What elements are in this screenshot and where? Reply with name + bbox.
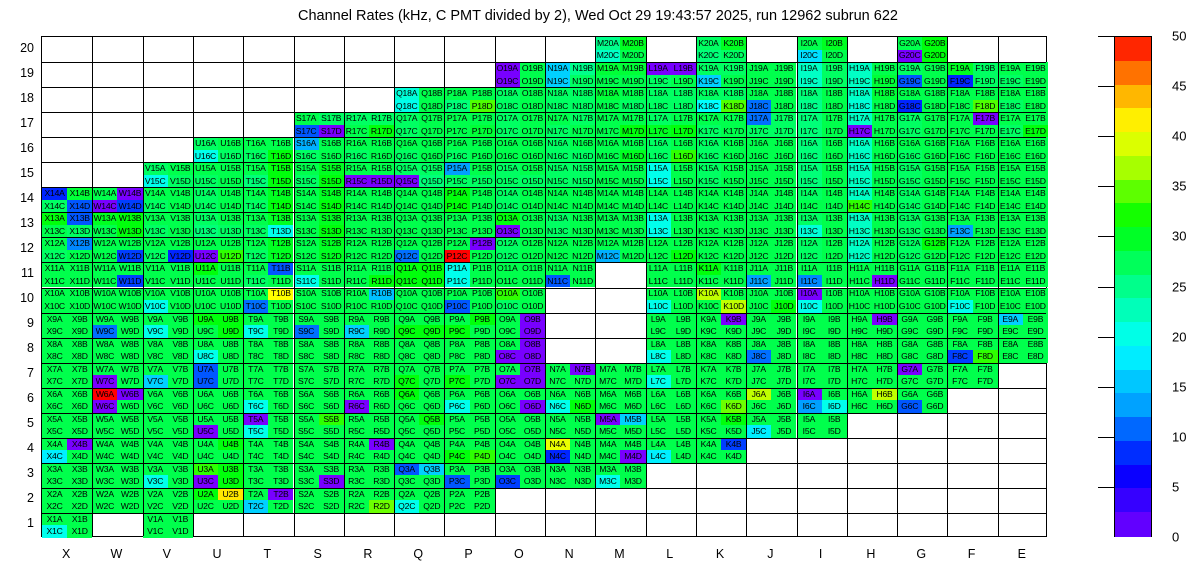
heatmap-cell: P16D [470,150,495,163]
heatmap-cell: H13D [872,225,897,238]
heatmap-cell: H15D [872,175,897,188]
colorbar-tick-mark [1098,86,1114,87]
heatmap-cell: R14D [369,200,394,213]
heatmap-cell: U12B [218,237,243,250]
heatmap-cell: M6B [620,388,645,401]
heatmap-cell: V13D [168,225,193,238]
heatmap-cell: K17A [696,112,721,125]
heatmap-cell: S12C [294,250,319,263]
heatmap-cell: T15D [268,175,293,188]
heatmap-cell: Q5C [394,425,419,438]
heatmap-cell: P6B [470,388,495,401]
heatmap-cell: K13A [696,212,721,225]
heatmap-cell: G7A [897,363,922,376]
heatmap-cell: S15C [294,175,319,188]
heatmap-cell: N3D [570,475,595,488]
heatmap-cell: V12B [168,237,193,250]
heatmap-cell: W14D [117,200,142,213]
heatmap-cell: U2D [218,500,243,513]
heatmap-cell: L7C [646,375,671,388]
heatmap-cell: L12C [646,250,671,263]
heatmap-cell: G11D [922,275,947,288]
heatmap-cell: N4A [545,438,570,451]
heatmap-plot[interactable]: M20AM20BM20CM20DK20AK20BK20CK20DI20AI20B… [41,36,1047,537]
heatmap-cell: J15C [746,175,771,188]
heatmap-cell: R5A [344,413,369,426]
heatmap-cell: T5B [268,413,293,426]
heatmap-cell: S15B [319,162,344,175]
heatmap-cell: H17B [872,112,897,125]
heatmap-cell: Q13B [419,212,444,225]
heatmap-cell: G11A [897,262,922,275]
heatmap-cell: N17D [570,125,595,138]
heatmap-cell: K16D [721,150,746,163]
heatmap-cell: Q12A [394,237,419,250]
heatmap-cell: S5C [294,425,319,438]
heatmap-cell: R17C [344,125,369,138]
heatmap-cell: N3A [545,463,570,476]
heatmap-cell: J17B [771,112,796,125]
heatmap-cell: U4D [218,450,243,463]
heatmap-cell: J19C [746,75,771,88]
heatmap-cell: X12D [67,250,92,263]
grid-line-horizontal [42,87,1046,88]
colorbar-tick-label: 40 [1172,129,1186,144]
heatmap-cell: P18A [444,87,469,100]
heatmap-cell: F17B [973,112,998,125]
heatmap-cell: X6D [67,400,92,413]
heatmap-cell: L18B [671,87,696,100]
heatmap-cell: P6D [470,400,495,413]
grid-line-horizontal [42,162,1046,163]
heatmap-cell: S3C [294,475,319,488]
heatmap-cell: V11B [168,262,193,275]
heatmap-cell: E12B [1023,237,1048,250]
heatmap-cell: F16A [947,137,972,150]
heatmap-cell: U14C [193,200,218,213]
heatmap-cell: U7B [218,363,243,376]
heatmap-cell: G19A [897,62,922,75]
heatmap-cell: Q12D [419,250,444,263]
heatmap-cell: X6C [42,400,67,413]
heatmap-cell: T13B [268,212,293,225]
heatmap-cell: S6C [294,400,319,413]
heatmap-cell: H11A [847,262,872,275]
heatmap-cell: U13D [218,225,243,238]
heatmap-cell: I19D [822,75,847,88]
heatmap-cell: Q6B [419,388,444,401]
heatmap-cell: S5A [294,413,319,426]
heatmap-cell: P11B [470,262,495,275]
heatmap-cell: F12C [947,250,972,263]
heatmap-cell: S7B [319,363,344,376]
heatmap-cell: S2C [294,500,319,513]
heatmap-cell: U11A [193,262,218,275]
heatmap-cell: K11B [721,262,746,275]
heatmap-cell: R8D [369,350,394,363]
heatmap-cell: Q12B [419,237,444,250]
heatmap-cell: F15B [973,162,998,175]
heatmap-cell: O6C [495,400,520,413]
heatmap-cell: H8B [872,338,897,351]
grid-line-horizontal [42,438,1046,439]
heatmap-cell: V1B [168,513,193,526]
heatmap-cell: U11B [218,262,243,275]
heatmap-cell: I16B [822,137,847,150]
heatmap-cell: X10B [67,288,92,301]
heatmap-cell: T10C [243,300,268,313]
heatmap-cell: M19D [620,75,645,88]
heatmap-cell: F13B [973,212,998,225]
heatmap-cell: W8B [117,338,142,351]
heatmap-cell: Q13A [394,212,419,225]
heatmap-cell: E18A [998,87,1023,100]
heatmap-cell: K9D [721,325,746,338]
heatmap-cell: L10A [646,288,671,301]
heatmap-cell: U3A [193,463,218,476]
heatmap-cell: L15A [646,162,671,175]
heatmap-cell: H15B [872,162,897,175]
heatmap-cell: M19B [620,62,645,75]
heatmap-cell: N15A [545,162,570,175]
heatmap-cell: Q11D [419,275,444,288]
heatmap-cell: T3B [268,463,293,476]
heatmap-cell: F16C [947,150,972,163]
heatmap-cell: P16B [470,137,495,150]
heatmap-cell: R2C [344,500,369,513]
heatmap-cell: J16C [746,150,771,163]
heatmap-cell: V10D [168,300,193,313]
heatmap-cell: J5A [746,413,771,426]
heatmap-cell: M13C [595,225,620,238]
heatmap-cell: H6B [872,388,897,401]
heatmap-cell: E19A [998,62,1023,75]
heatmap-cell: J11B [771,262,796,275]
heatmap-cell: J6D [771,400,796,413]
heatmap-cell: E9B [1023,313,1048,326]
heatmap-cell: V4B [168,438,193,451]
heatmap-cell: V6D [168,400,193,413]
heatmap-cell: U11C [193,275,218,288]
heatmap-cell: L9A [646,313,671,326]
heatmap-cell: I13B [822,212,847,225]
heatmap-cell: I9D [822,325,847,338]
heatmap-cell: K15A [696,162,721,175]
heatmap-cell: K14A [696,187,721,200]
heatmap-cell: O13D [520,225,545,238]
heatmap-cell: K10B [721,288,746,301]
heatmap-cell: L8C [646,350,671,363]
heatmap-cell: P2B [470,488,495,501]
heatmap-cell: Q10D [419,300,444,313]
heatmap-cell: F17A [947,112,972,125]
heatmap-cell: P11D [470,275,495,288]
heatmap-cell: V2B [168,488,193,501]
heatmap-cell: K17D [721,125,746,138]
heatmap-cell: O14A [495,187,520,200]
heatmap-cell: O10B [520,288,545,301]
heatmap-cell: G13C [897,225,922,238]
heatmap-cell: W13C [92,225,117,238]
heatmap-cell: E19C [998,75,1023,88]
heatmap-cell: W7C [92,375,117,388]
grid-line-horizontal [42,488,1046,489]
grid-line-horizontal [42,363,1046,364]
heatmap-cell: G12C [897,250,922,263]
heatmap-cell: R16C [344,150,369,163]
heatmap-cell: V14B [168,187,193,200]
heatmap-cell: P5C [444,425,469,438]
heatmap-cell: H19A [847,62,872,75]
heatmap-cell: X7A [42,363,67,376]
heatmap-cell: G9D [922,325,947,338]
heatmap-cell: R16D [369,150,394,163]
colorbar-tick-label: 15 [1172,379,1186,394]
colorbar-tick-mark [1098,136,1114,137]
heatmap-cell: J8B [771,338,796,351]
heatmap-cell: Q9C [394,325,419,338]
heatmap-cell: Q15B [419,162,444,175]
heatmap-cell: O17B [520,112,545,125]
heatmap-cell: W9A [92,313,117,326]
heatmap-cell: L6A [646,388,671,401]
y-axis-tick-label: 18 [4,91,34,105]
heatmap-cell: F17D [973,125,998,138]
heatmap-cell: I15B [822,162,847,175]
heatmap-cell: S3B [319,463,344,476]
heatmap-cell: G14A [897,187,922,200]
heatmap-cell: V2A [143,488,168,501]
heatmap-cell: O15A [495,162,520,175]
heatmap-cell: G16D [922,150,947,163]
heatmap-cell: K19C [696,75,721,88]
heatmap-cell: I6B [822,388,847,401]
heatmap-cell: V6A [143,388,168,401]
heatmap-cell: N15B [570,162,595,175]
heatmap-cell: F7A [947,363,972,376]
heatmap-cell: X8B [67,338,92,351]
heatmap-cell: S6A [294,388,319,401]
heatmap-cell: V8A [143,338,168,351]
heatmap-cell: U14B [218,187,243,200]
y-axis-tick-label: 16 [4,141,34,155]
heatmap-cell: O12D [520,250,545,263]
heatmap-cell: J17A [746,112,771,125]
heatmap-cell: I8C [797,350,822,363]
heatmap-cell: E18D [1023,100,1048,113]
heatmap-cell: R13C [344,225,369,238]
heatmap-cell: R8B [369,338,394,351]
heatmap-cell: U13B [218,212,243,225]
heatmap-cell: R11A [344,262,369,275]
heatmap-cell: U7D [218,375,243,388]
heatmap-cell: K5D [721,425,746,438]
heatmap-cell: W10B [117,288,142,301]
heatmap-cell: I16D [822,150,847,163]
heatmap-cell: I10A [797,288,822,301]
heatmap-cell: H12A [847,237,872,250]
heatmap-cell: M13B [620,212,645,225]
heatmap-cell: J18C [746,100,771,113]
heatmap-cell: K6C [696,400,721,413]
grid-line-horizontal [42,237,1046,238]
heatmap-cell: E14A [998,187,1023,200]
heatmap-cell: F18C [947,100,972,113]
heatmap-cell: O11D [520,275,545,288]
heatmap-cell: E13D [1023,225,1048,238]
y-axis-tick-label: 6 [4,391,34,405]
heatmap-cell: L15B [671,162,696,175]
heatmap-cell: P4A [444,438,469,451]
y-axis-tick-label: 11 [4,266,34,280]
heatmap-cell: O18A [495,87,520,100]
heatmap-cell: G6B [922,388,947,401]
heatmap-cell: X14A [42,187,67,200]
heatmap-cell: P17C [444,125,469,138]
heatmap-cell: W11D [117,275,142,288]
heatmap-cell: L12B [671,237,696,250]
heatmap-cell: T5D [268,425,293,438]
heatmap-cell: W8C [92,350,117,363]
heatmap-cell: J9A [746,313,771,326]
heatmap-cell: X14C [42,200,67,213]
heatmap-cell: U16C [193,150,218,163]
heatmap-cell: R3A [344,463,369,476]
heatmap-cell: O9A [495,313,520,326]
heatmap-cell: S8A [294,338,319,351]
heatmap-cell: J8C [746,350,771,363]
heatmap-cell: M18D [620,100,645,113]
heatmap-cell: E10B [1023,288,1048,301]
heatmap-cell: N15C [545,175,570,188]
heatmap-cell: M3D [620,475,645,488]
heatmap-cell: L14C [646,200,671,213]
heatmap-cell: I19B [822,62,847,75]
y-axis-tick-label: 14 [4,191,34,205]
heatmap-cell: S9D [319,325,344,338]
heatmap-cell: W4B [117,438,142,451]
heatmap-cell: W9C [92,325,117,338]
heatmap-cell: Q18B [419,87,444,100]
heatmap-cell: S14C [294,200,319,213]
heatmap-cell: H6C [847,400,872,413]
heatmap-cell: R15A [344,162,369,175]
heatmap-cell: O19C [495,75,520,88]
heatmap-cell: H9D [872,325,897,338]
heatmap-cell: T15B [268,162,293,175]
heatmap-cell: E19B [1023,62,1048,75]
heatmap-cell: H8C [847,350,872,363]
heatmap-cell: F11D [973,275,998,288]
heatmap-cell: P10C [444,300,469,313]
heatmap-cell: F12A [947,237,972,250]
heatmap-cell: F19C [947,75,972,88]
heatmap-cell: N14D [570,200,595,213]
heatmap-cell: I5A [797,413,822,426]
heatmap-cell: O9B [520,313,545,326]
heatmap-cell: G17D [922,125,947,138]
heatmap-cell: X5C [42,425,67,438]
heatmap-cell: N19B [570,62,595,75]
heatmap-cell: O12A [495,237,520,250]
heatmap-cell: S5B [319,413,344,426]
heatmap-cell: V5B [168,413,193,426]
heatmap-cell: X8A [42,338,67,351]
heatmap-cell: V9D [168,325,193,338]
heatmap-cell: W6C [92,400,117,413]
heatmap-cell: L6B [671,388,696,401]
heatmap-cell: S4C [294,450,319,463]
heatmap-cell: R17B [369,112,394,125]
heatmap-cell: R7C [344,375,369,388]
heatmap-cell: V14D [168,200,193,213]
heatmap-cell: R10B [369,288,394,301]
heatmap-cell: G20C [897,50,922,63]
heatmap-cell: M17D [620,125,645,138]
heatmap-cell: P2A [444,488,469,501]
heatmap-cell: G20A [897,37,922,50]
heatmap-cell: R6C [344,400,369,413]
heatmap-cell: V4C [143,450,168,463]
heatmap-cell: N11C [545,275,570,288]
heatmap-cell: W13D [117,225,142,238]
heatmap-cell: W7B [117,363,142,376]
heatmap-cell: P8A [444,338,469,351]
heatmap-cell: O10C [495,300,520,313]
heatmap-cell: X12B [67,237,92,250]
heatmap-cell: M14A [595,187,620,200]
heatmap-cell: L18D [671,100,696,113]
heatmap-cell: R4A [344,438,369,451]
heatmap-cell: J10C [746,300,771,313]
heatmap-cell: N11A [545,262,570,275]
heatmap-cell: M15D [620,175,645,188]
heatmap-cell: H19B [872,62,897,75]
heatmap-cell: S15D [319,175,344,188]
heatmap-cell: J11A [746,262,771,275]
heatmap-cell: J11C [746,275,771,288]
heatmap-cell: S7C [294,375,319,388]
heatmap-cell: G10A [897,288,922,301]
heatmap-cell: P12B [470,237,495,250]
heatmap-cell: G16A [897,137,922,150]
heatmap-cell: Q18A [394,87,419,100]
heatmap-cell: R6B [369,388,394,401]
heatmap-cell: Q4C [394,450,419,463]
heatmap-cell: I10C [797,300,822,313]
grid-line-horizontal [42,338,1046,339]
heatmap-cell: W6B [117,388,142,401]
heatmap-cell: N17A [545,112,570,125]
heatmap-cell: X11D [67,275,92,288]
heatmap-cell: O9C [495,325,520,338]
heatmap-cell: J13A [746,212,771,225]
heatmap-cell: F11C [947,275,972,288]
heatmap-cell: P14B [470,187,495,200]
heatmap-cell: M16A [595,137,620,150]
grid-line-horizontal [42,388,1046,389]
heatmap-cell: L11C [646,275,671,288]
heatmap-cell: R8C [344,350,369,363]
colorbar-tick-label: 10 [1172,429,1186,444]
heatmap-cell: T2D [268,500,293,513]
heatmap-cell: I5C [797,425,822,438]
heatmap-cell: U4A [193,438,218,451]
y-axis-tick-label: 15 [4,166,34,180]
heatmap-cell: H11C [847,275,872,288]
heatmap-cell: R9C [344,325,369,338]
heatmap-cell: G13D [922,225,947,238]
